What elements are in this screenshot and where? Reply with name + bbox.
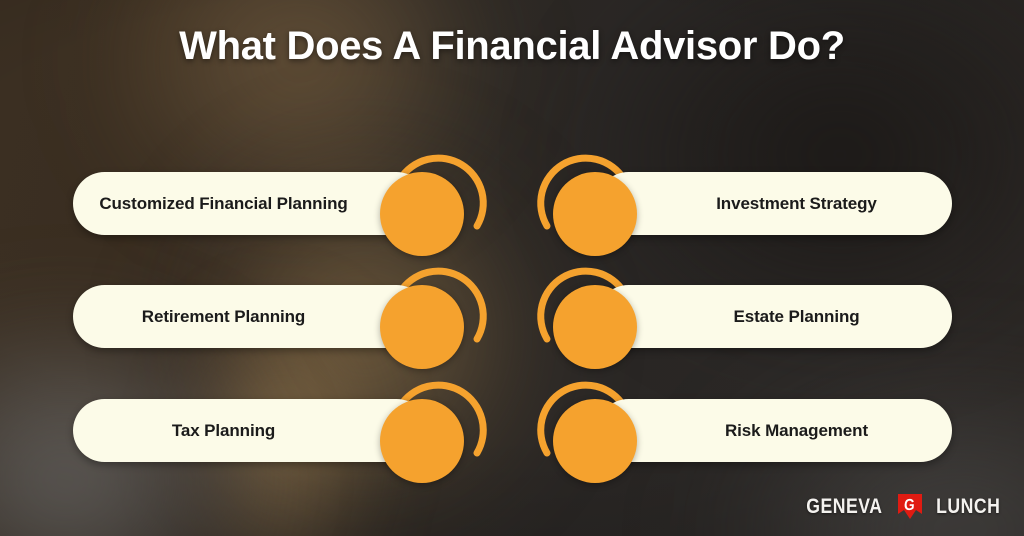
item-pill[interactable]: Estate Planning (597, 285, 952, 348)
infographic-canvas: What Does A Financial Advisor Do? Custom… (0, 0, 1024, 536)
brand-logo-mark-letter: G (904, 498, 916, 516)
item-pill[interactable]: Investment Strategy (597, 172, 952, 235)
bullet-circle-icon (553, 285, 637, 369)
bullet-circle-icon (553, 172, 637, 256)
item-pill[interactable]: Retirement Planning (73, 285, 428, 348)
item-pill[interactable]: Risk Management (597, 399, 952, 462)
brand-logo-word-right: LUNCH (936, 495, 1000, 519)
list-item-label: Risk Management (725, 420, 868, 442)
list-item[interactable]: Investment Strategy (531, 145, 952, 265)
brand-logo[interactable]: GENEVA G LUNCH (799, 493, 1006, 520)
list-item[interactable]: Customized Financial Planning (73, 145, 493, 265)
list-item-label: Investment Strategy (716, 193, 877, 215)
item-pill[interactable]: Tax Planning (73, 399, 428, 462)
bullet-circle-icon (380, 172, 464, 256)
list-item[interactable]: Estate Planning (531, 258, 952, 378)
list-item-label: Tax Planning (172, 420, 275, 442)
list-item-label: Customized Financial Planning (99, 193, 347, 215)
list-item[interactable]: Tax Planning (73, 372, 493, 492)
brand-logo-shield-icon: G (897, 493, 923, 520)
bullet-circle-icon (380, 399, 464, 483)
page-title: What Does A Financial Advisor Do? (0, 24, 1024, 69)
item-pill[interactable]: Customized Financial Planning (73, 172, 428, 235)
list-item-label: Estate Planning (733, 306, 859, 328)
bullet-circle-icon (553, 399, 637, 483)
list-item[interactable]: Risk Management (531, 372, 952, 492)
list-item-label: Retirement Planning (142, 306, 305, 328)
brand-logo-word-left: GENEVA (806, 495, 882, 519)
list-item[interactable]: Retirement Planning (73, 258, 493, 378)
bullet-circle-icon (380, 285, 464, 369)
